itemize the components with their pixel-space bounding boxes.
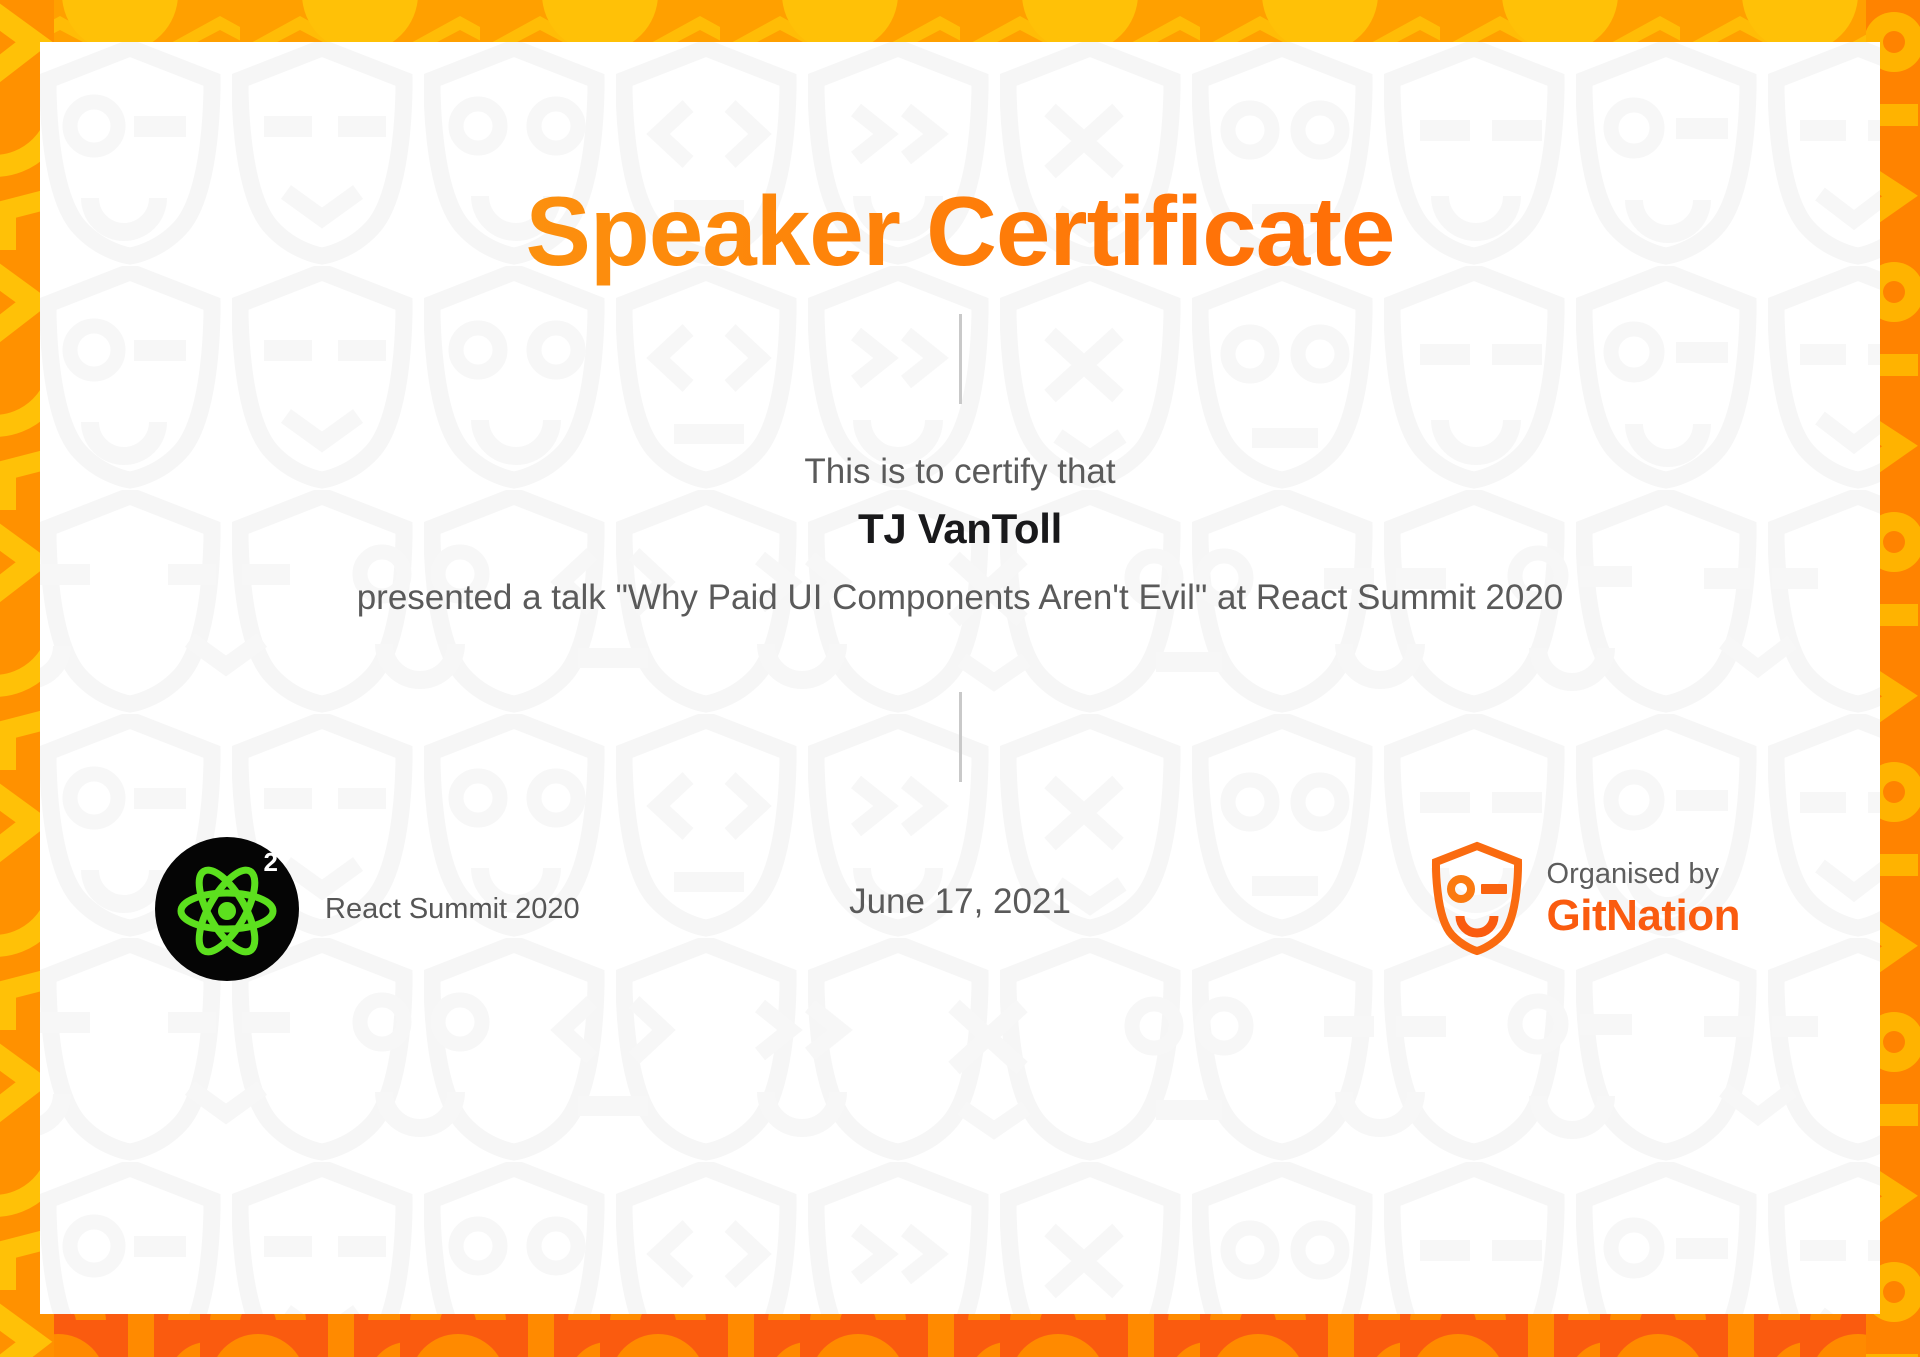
organised-by-label: Organised by [1547, 858, 1740, 890]
talk-description: presented a talk "Why Paid UI Components… [100, 578, 1820, 618]
certify-line: This is to certify that [40, 452, 1880, 492]
react-summit-logo-superscript: 2 [264, 849, 278, 875]
certificate-footer: 2 React Summit 2020 June 17, 2021 Or [40, 837, 1880, 1037]
page-title: Speaker Certificate [40, 175, 1880, 288]
certificate-card: Speaker Certificate This is to certify t… [40, 42, 1880, 1314]
recipient-name: TJ VanToll [40, 505, 1880, 553]
divider-top [959, 314, 962, 404]
organiser-name: GitNation [1547, 891, 1740, 940]
organiser-block: Organised by GitNation [1429, 841, 1740, 957]
organiser-texts: Organised by GitNation [1547, 858, 1740, 940]
gitnation-shield-icon [1429, 841, 1525, 957]
divider-bottom [959, 692, 962, 782]
certificate: Speaker Certificate This is to certify t… [0, 0, 1920, 1357]
